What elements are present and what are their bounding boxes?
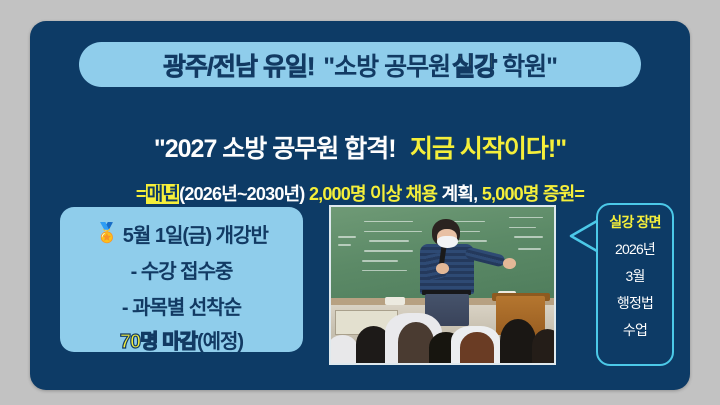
classroom-photo-image — [331, 207, 554, 363]
subline-yellow-2: 5,000명 증원 — [482, 184, 575, 204]
callout-class: 수업 — [598, 320, 672, 340]
info-line-1-label: 5월 1일(금) 개강반 — [123, 219, 268, 248]
info-line-capacity: 70명 마감(예정) — [60, 325, 303, 354]
student-head — [331, 335, 358, 363]
callout-year: 2026년 — [598, 239, 672, 259]
title-highlight-word: 실강 — [450, 47, 498, 83]
enrollment-info-box: 🏅 5월 1일(금) 개강반 - 수강 접수중 - 과목별 선착순 70명 마감… — [60, 207, 303, 352]
capacity-note: (예정) — [197, 331, 243, 353]
chalk-eraser — [385, 297, 405, 305]
info-line-open-date: 🏅 5월 1일(금) 개강반 — [60, 219, 303, 248]
subline-highlight-word: 매년 — [146, 184, 180, 204]
title-region-text: 광주/전남 유일! — [163, 47, 314, 83]
poster-card: 광주/전남 유일! "소방 공무원 실강 학원" "2027 소방 공무원 합격… — [30, 21, 690, 390]
student-head — [500, 319, 536, 363]
subline: =매년(2026년~2030년) 2,000명 이상 채용 계획, 5,000명… — [30, 180, 690, 206]
subline-period: (2026년~2030년) — [179, 184, 304, 204]
info-line-accepting: - 수강 접수중 — [60, 255, 303, 284]
capacity-highlight: 70명 마감 — [120, 331, 197, 353]
student-head — [460, 332, 493, 363]
callout-pointer-icon — [568, 219, 598, 253]
callout-title: 실강 장면 — [598, 212, 672, 232]
subline-prefix: = — [136, 184, 146, 204]
student-head — [532, 329, 554, 363]
classroom-photo — [329, 205, 556, 365]
headline-white-part: "2027 소방 공무원 합격! — [154, 135, 396, 163]
subline-white-1: 계획, — [442, 184, 478, 204]
title-quote-close: 학원" — [502, 47, 557, 83]
headline: "2027 소방 공무원 합격! 지금 시작이다!" — [30, 129, 690, 165]
callout-month: 3월 — [598, 266, 672, 286]
callout-subject: 행정법 — [598, 293, 672, 313]
title-banner: 광주/전남 유일! "소방 공무원 실강 학원" — [79, 42, 641, 87]
title-quote-open: "소방 공무원 — [323, 47, 450, 83]
poster-canvas: 광주/전남 유일! "소방 공무원 실강 학원" "2027 소방 공무원 합격… — [0, 0, 720, 405]
subline-suffix: = — [574, 184, 584, 204]
medal-icon: 🏅 — [95, 224, 118, 243]
info-line-first-come: - 과목별 선착순 — [60, 291, 303, 320]
headline-yellow-part: 지금 시작이다!" — [410, 135, 566, 163]
photo-callout: 실강 장면 2026년 3월 행정법 수업 — [596, 203, 674, 366]
subline-yellow-1: 2,000명 이상 채용 — [309, 184, 437, 204]
